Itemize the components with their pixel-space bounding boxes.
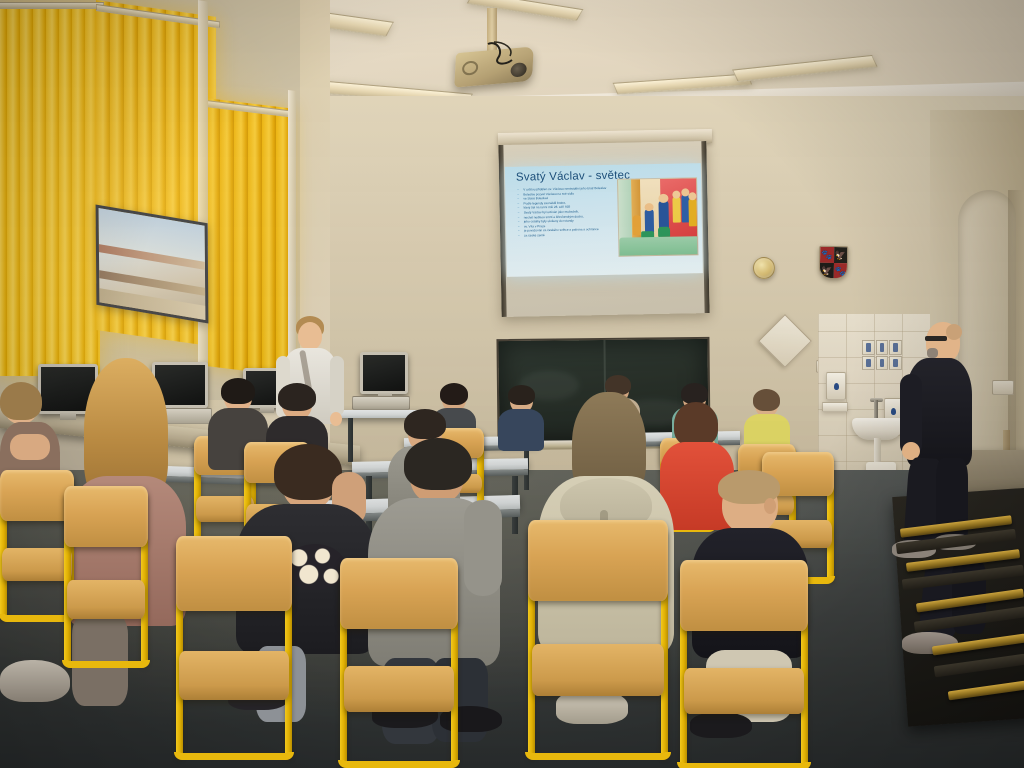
chair[interactable] — [0, 470, 74, 620]
chair-backrest — [528, 520, 668, 601]
hair — [753, 389, 780, 411]
projection-screen: Svatý Václav - světec V určitou přidělen… — [498, 141, 709, 317]
chair-seat — [344, 666, 455, 712]
vertical-blinds[interactable] — [0, 4, 100, 376]
tile — [876, 340, 889, 355]
blind-rail — [0, 2, 104, 9]
bald-crown — [946, 324, 962, 340]
dispenser-label-icon — [834, 383, 839, 390]
chair-skid — [174, 752, 295, 760]
chair-skid — [677, 762, 810, 768]
illustration-floor — [619, 236, 698, 257]
illustration-figure — [633, 215, 641, 235]
illustration-figure — [658, 227, 670, 237]
framed-poster — [96, 205, 209, 324]
decorative-tiles — [862, 340, 902, 370]
hair — [404, 438, 472, 490]
computer-monitor[interactable] — [360, 352, 408, 394]
hair — [221, 378, 255, 404]
tshirt-print — [284, 544, 346, 590]
soap-dispenser[interactable] — [826, 372, 846, 400]
illustration-figure — [688, 198, 697, 226]
chair[interactable] — [528, 520, 668, 758]
illustration-figure — [645, 209, 654, 233]
tile — [876, 356, 889, 371]
chair[interactable] — [680, 560, 808, 768]
arms-quarter: 🦅 — [833, 247, 847, 263]
faucet[interactable] — [874, 400, 878, 420]
student — [744, 392, 790, 450]
projected-slide: Svatý Václav - světec V určitou přidělen… — [505, 163, 703, 277]
window-mullion — [198, 0, 208, 422]
washbasin — [852, 418, 904, 440]
arm — [330, 356, 344, 416]
arch-shadow — [1008, 190, 1024, 490]
chair[interactable] — [64, 486, 148, 666]
light-switch[interactable] — [992, 380, 1014, 395]
wall-plaque-icon — [753, 257, 775, 279]
chair-backrest — [340, 558, 458, 629]
hair — [440, 383, 468, 405]
illustration-figure — [658, 201, 669, 229]
goatee — [927, 348, 938, 358]
chair[interactable] — [340, 558, 458, 766]
chair-seat — [67, 580, 146, 620]
slide-bullet-list: V určitou přidělen sv. Václavu nenáviděn… — [517, 186, 616, 238]
chair-backrest — [64, 486, 148, 547]
head — [298, 322, 322, 350]
chair-seat — [684, 668, 804, 714]
hair — [674, 402, 718, 446]
chair[interactable] — [176, 536, 292, 758]
chair-skid — [62, 660, 149, 668]
projector-cables — [470, 40, 540, 72]
chair-seat — [532, 644, 664, 696]
dispenser-label-icon — [891, 408, 896, 415]
ear — [764, 498, 776, 514]
classroom-photo: Svatý Václav - světec V určitou přidělen… — [0, 0, 1024, 768]
hair — [404, 409, 446, 439]
tile — [862, 356, 875, 371]
glasses-icon — [925, 336, 947, 341]
slide-title: Svatý Václav - světec — [516, 169, 630, 183]
chair-seat — [179, 651, 288, 700]
desktop-computer[interactable] — [352, 396, 410, 410]
paper-towel-dispenser[interactable] — [822, 402, 848, 412]
chair-skid — [525, 752, 671, 760]
slide-bullet: za české země — [518, 232, 616, 238]
hair — [508, 385, 535, 405]
chair-backrest — [0, 470, 74, 521]
arms-quarter: 🐾 — [820, 247, 834, 263]
hair — [278, 383, 316, 411]
chair-skid — [338, 760, 461, 768]
hair — [681, 383, 708, 404]
chair-backrest — [176, 536, 292, 611]
chair-backrest — [680, 560, 808, 631]
arm — [10, 434, 50, 460]
tile — [862, 340, 875, 355]
shoe — [0, 660, 70, 702]
hand — [330, 412, 342, 426]
arm — [464, 500, 502, 596]
hair — [0, 382, 42, 420]
chair-seat — [2, 548, 72, 581]
czech-coat-of-arms-icon: 🐾 🦅 🦅 🐾 — [819, 246, 849, 280]
slide-illustration — [617, 177, 698, 257]
illustration-figure — [672, 197, 680, 223]
